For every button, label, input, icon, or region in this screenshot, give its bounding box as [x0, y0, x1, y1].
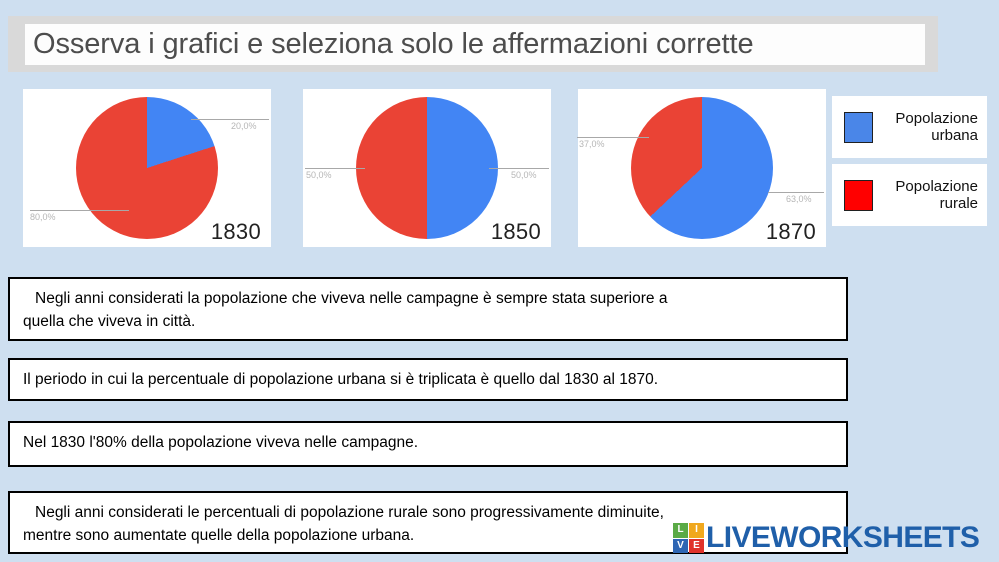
liveworksheets-watermark: L I V E LIVEWORKSHEETS — [673, 522, 979, 554]
pie-chart-1830: 20,0% 80,0% 1830 — [23, 89, 271, 247]
badge-letter-v: V — [673, 539, 688, 554]
pie-slices-1870 — [631, 97, 773, 239]
legend-label-urban-line1: Popolazione — [895, 110, 978, 127]
title-box: Osserva i grafici e seleziona solo le af… — [25, 24, 925, 65]
pie-label-rural-1830: 80,0% — [30, 212, 56, 222]
leader-line-rural-1830 — [30, 210, 129, 211]
page-title: Osserva i grafici e seleziona solo le af… — [25, 28, 754, 61]
leader-line-rural-1850 — [305, 168, 365, 169]
pie-label-urban-1850: 50,0% — [511, 170, 537, 180]
statement-option-2[interactable]: Il periodo in cui la percentuale di popo… — [8, 358, 848, 401]
pie-slices-1850 — [356, 97, 498, 239]
badge-letter-i: I — [689, 523, 704, 538]
badge-letter-e: E — [689, 539, 704, 554]
legend-label-urban-line2: urbana — [931, 127, 978, 144]
pie-year-1850: 1850 — [491, 219, 541, 245]
legend-item-rural: Popolazionerurale — [832, 164, 987, 226]
pie-year-1830: 1830 — [211, 219, 261, 245]
legend-label-rural-line2: rurale — [940, 195, 978, 212]
legend-item-urban: Popolazioneurbana — [832, 96, 987, 158]
statement-option-1-line1: Negli anni considerati la popolazione ch… — [23, 287, 836, 310]
leader-line-urban-1870 — [768, 192, 824, 193]
pie-label-rural-1850: 50,0% — [306, 170, 332, 180]
statement-option-2-line1: Il periodo in cui la percentuale di popo… — [23, 368, 836, 391]
pie-chart-1850: 50,0% 50,0% 1850 — [303, 89, 551, 247]
statement-option-3[interactable]: Nel 1830 l'80% della popolazione viveva … — [8, 421, 848, 467]
legend-label-rural: Popolazionerurale — [873, 178, 978, 212]
leader-line-urban-1830 — [191, 119, 269, 120]
liveworksheets-wordmark: LIVEWORKSHEETS — [706, 523, 979, 553]
leader-line-rural-1870 — [577, 137, 649, 138]
title-band: Osserva i grafici e seleziona solo le af… — [8, 16, 938, 72]
pie-label-urban-1870: 63,0% — [786, 194, 812, 204]
pie-label-urban-1830: 20,0% — [231, 121, 257, 131]
pie-label-rural-1870: 37,0% — [579, 139, 605, 149]
leader-line-urban-1850 — [489, 168, 549, 169]
statement-option-1-line2: quella che viveva in città. — [23, 310, 836, 333]
legend-swatch-rural-icon — [844, 180, 873, 211]
statement-option-1[interactable]: Negli anni considerati la popolazione ch… — [8, 277, 848, 341]
chart-legend: Popolazioneurbana Popolazionerurale — [832, 96, 987, 226]
legend-label-urban: Popolazioneurbana — [873, 110, 978, 144]
badge-letter-l: L — [673, 523, 688, 538]
pie-year-1870: 1870 — [766, 219, 816, 245]
statement-option-3-line1: Nel 1830 l'80% della popolazione viveva … — [23, 431, 836, 454]
legend-swatch-urban-icon — [844, 112, 873, 143]
pie-chart-1870: 63,0% 37,0% 1870 — [578, 89, 826, 247]
legend-label-rural-line1: Popolazione — [895, 178, 978, 195]
liveworksheets-badge-icon: L I V E — [673, 523, 704, 553]
